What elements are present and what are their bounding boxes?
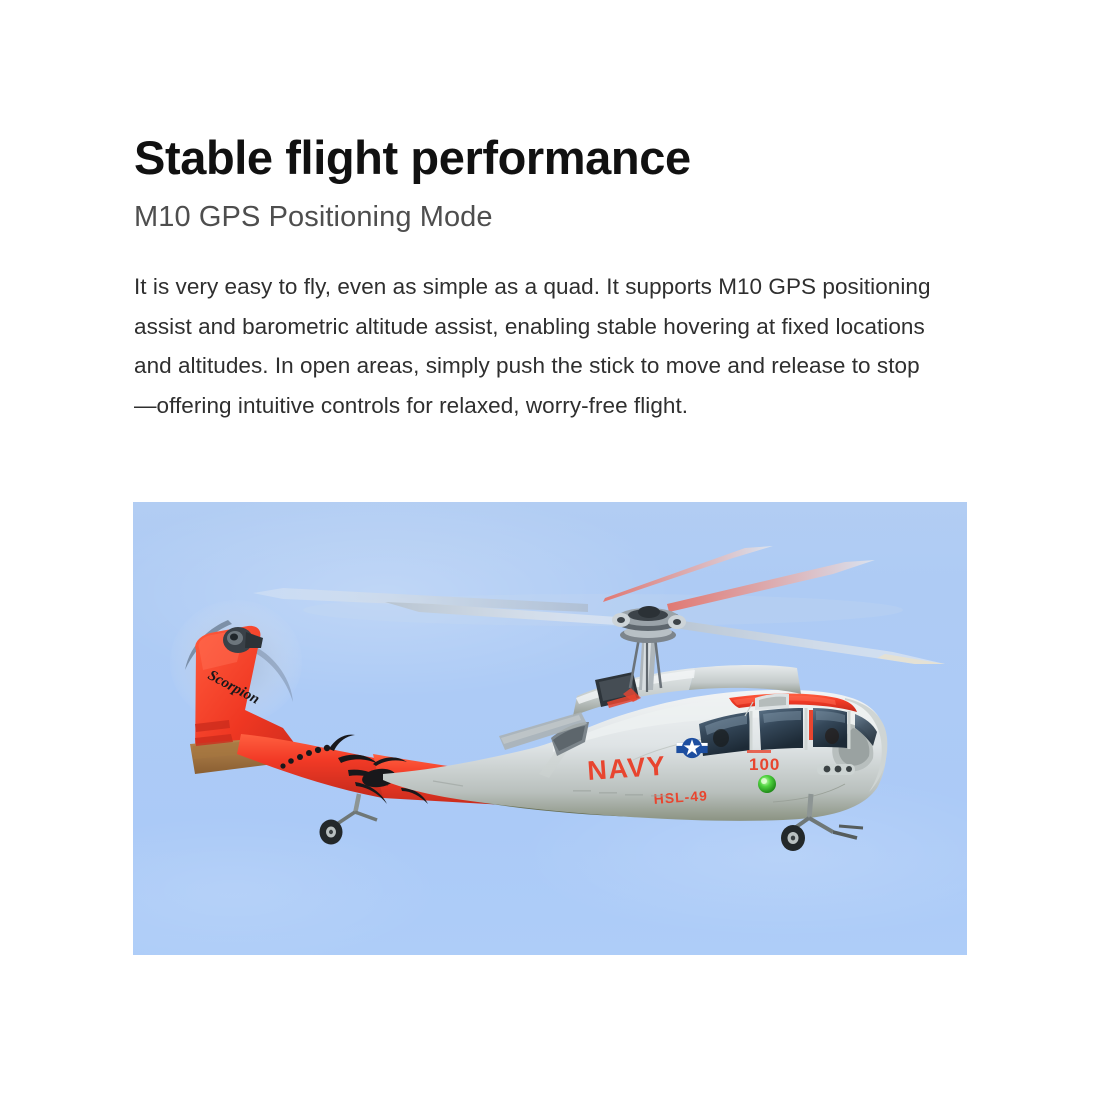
navy-marking: NAVY <box>586 751 667 786</box>
text-content-block: Stable flight performance M10 GPS Positi… <box>134 0 974 426</box>
feature-description-paragraph: It is very easy to fly, even as simple a… <box>134 234 934 425</box>
product-photo: Scorpion <box>133 502 967 955</box>
product-feature-page: Stable flight performance M10 GPS Positi… <box>0 0 1100 1100</box>
page-title: Stable flight performance <box>134 0 974 182</box>
helicopter-illustration: Scorpion <box>133 502 967 955</box>
navigation-light <box>758 775 776 793</box>
nose-sensors <box>817 764 855 775</box>
nose-number-marking: 100 <box>749 755 780 774</box>
page-subtitle: M10 GPS Positioning Mode <box>134 182 974 234</box>
